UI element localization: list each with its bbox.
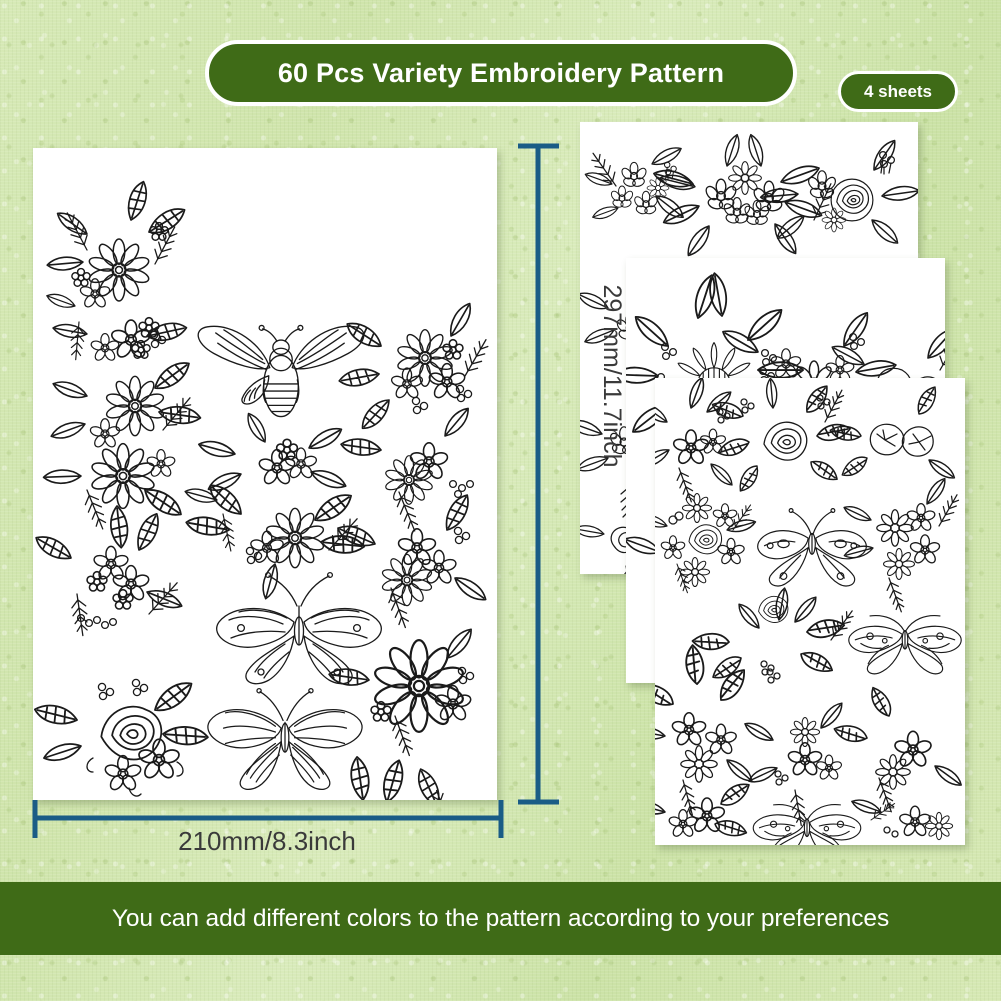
title-banner: 60 Pcs Variety Embroidery Pattern	[205, 40, 797, 106]
footer-banner: You can add different colors to the patt…	[0, 882, 1001, 955]
footer-note: You can add different colors to the patt…	[112, 905, 889, 933]
sheets-count-label: 4 sheets	[864, 82, 932, 102]
sheets-count-badge: 4 sheets	[838, 71, 958, 112]
pattern-sheet-front-right	[655, 378, 965, 845]
dimension-label-height: 297mm/11.7inch	[594, 256, 630, 496]
dimension-line-vertical	[515, 138, 575, 810]
dimension-label-width: 210mm/8.3inch	[25, 822, 509, 860]
page-title: 60 Pcs Variety Embroidery Pattern	[278, 58, 724, 89]
pattern-sheet-main	[33, 148, 497, 800]
